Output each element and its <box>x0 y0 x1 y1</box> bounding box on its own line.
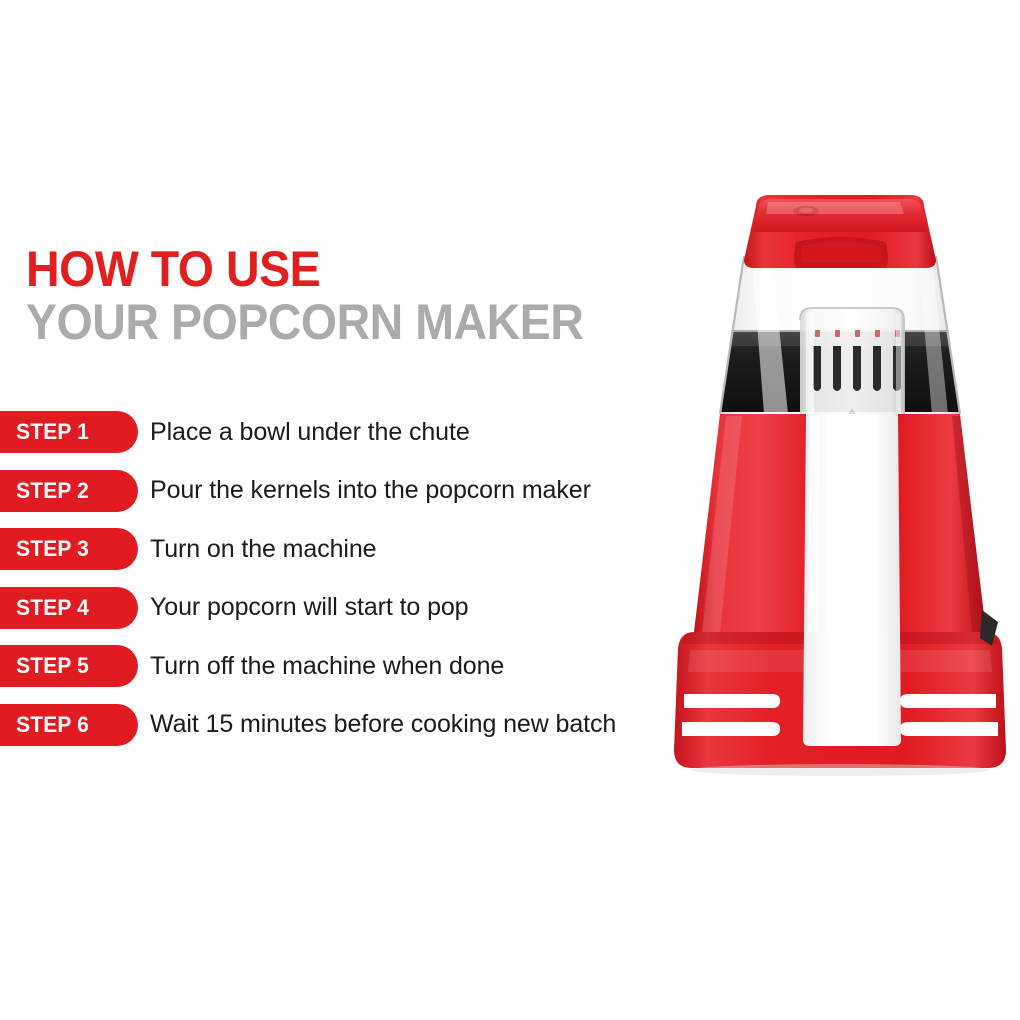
step-badge-label: STEP 5 <box>0 653 89 679</box>
list-item: STEP 4 Your popcorn will start to pop <box>0 587 700 629</box>
list-item: STEP 6 Wait 15 minutes before cooking ne… <box>0 704 700 746</box>
page-title: HOW TO USE YOUR POPCORN MAKER <box>26 243 686 349</box>
heading-line-primary: HOW TO USE <box>26 243 640 295</box>
lid <box>744 195 936 268</box>
step-description: Turn on the machine <box>150 528 376 570</box>
step-badge-1: STEP 1 <box>0 411 138 453</box>
list-item: STEP 3 Turn on the machine <box>0 528 700 570</box>
front-white-stripe-base <box>803 632 901 746</box>
step-description: Place a bowl under the chute <box>150 411 470 453</box>
heading-line-secondary: YOUR POPCORN MAKER <box>26 295 640 349</box>
list-item: STEP 1 Place a bowl under the chute <box>0 411 700 453</box>
step-badge-label: STEP 2 <box>0 478 89 504</box>
infographic-page: HOW TO USE YOUR POPCORN MAKER STEP 1 Pla… <box>0 0 1020 1020</box>
step-description: Your popcorn will start to pop <box>150 587 469 629</box>
step-description: Wait 15 minutes before cooking new batch <box>150 704 616 746</box>
drop-shadow <box>690 764 990 776</box>
step-badge-6: STEP 6 <box>0 704 138 746</box>
step-badge-label: STEP 1 <box>0 419 89 445</box>
step-description: Pour the kernels into the popcorn maker <box>150 470 591 512</box>
product-image-popcorn-maker <box>660 180 1020 820</box>
list-item: STEP 2 Pour the kernels into the popcorn… <box>0 470 700 512</box>
step-badge-label: STEP 6 <box>0 712 89 738</box>
step-badge-label: STEP 3 <box>0 536 89 562</box>
list-item: STEP 5 Turn off the machine when done <box>0 645 700 687</box>
step-description: Turn off the machine when done <box>150 645 504 687</box>
step-badge-4: STEP 4 <box>0 587 138 629</box>
step-badge-3: STEP 3 <box>0 528 138 570</box>
steps-list: STEP 1 Place a bowl under the chute STEP… <box>0 411 700 762</box>
step-badge-2: STEP 2 <box>0 470 138 512</box>
step-badge-label: STEP 4 <box>0 595 89 621</box>
step-badge-5: STEP 5 <box>0 645 138 687</box>
